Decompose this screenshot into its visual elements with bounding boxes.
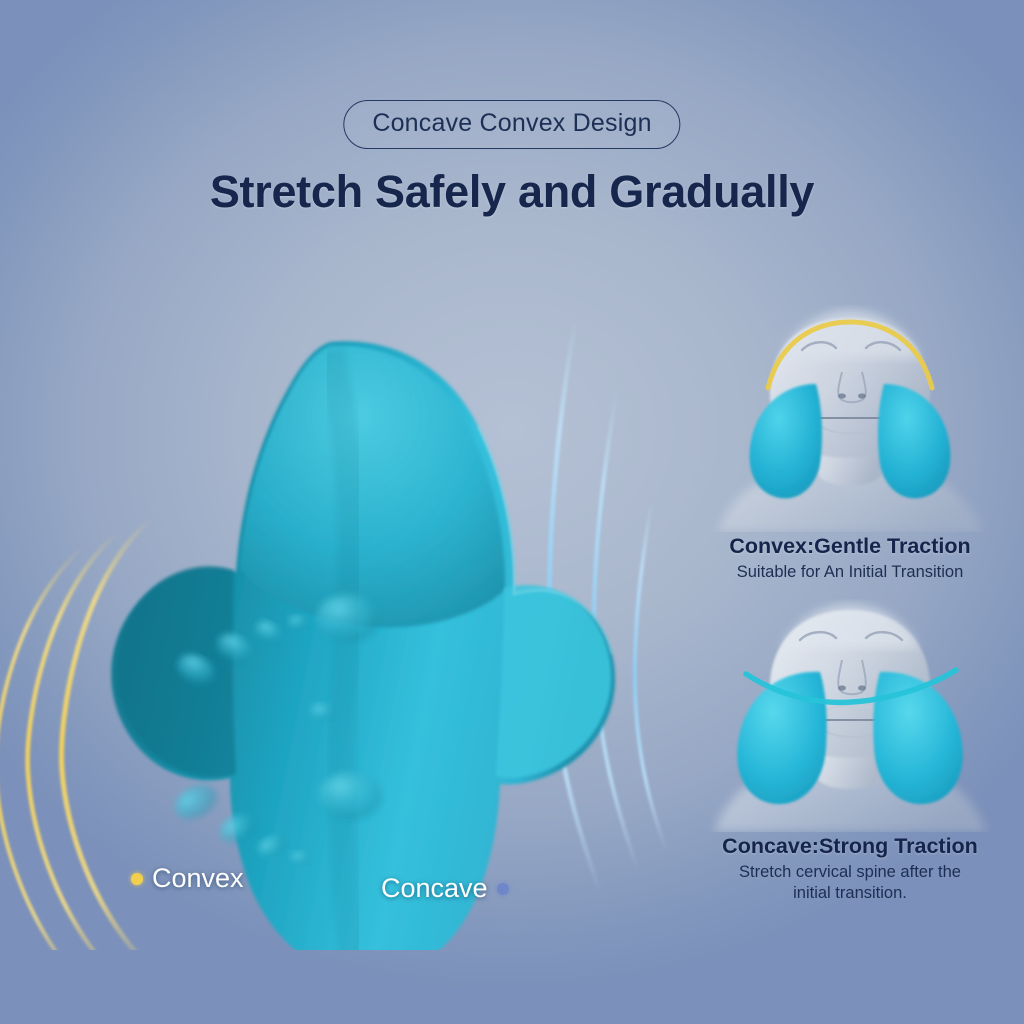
panel-convex-gentle-traction: Convex:Gentle Traction Suitable for An I…: [676, 296, 1024, 583]
caption-convex: Convex:Gentle Traction Suitable for An I…: [676, 534, 1024, 583]
convex-marker-dot: [131, 873, 143, 885]
caption-subtitle-concave: Stretch cervical spine after the initial…: [676, 862, 1024, 905]
caption-sub-line: Stretch cervical spine after the: [676, 862, 1024, 883]
convex-label-text: Convex: [152, 863, 244, 894]
figure-concave-traction: [676, 596, 1024, 832]
product-scene: Convex Concave: [0, 250, 680, 950]
design-badge: Concave Convex Design: [343, 100, 680, 149]
caption-sub-line: Suitable for An Initial Transition: [676, 562, 1024, 583]
caption-subtitle-convex: Suitable for An Initial Transition: [676, 562, 1024, 583]
figure-convex-traction: [676, 296, 1024, 532]
concave-label-text: Concave: [381, 873, 488, 904]
label-concave: Concave: [381, 873, 509, 904]
caption-sub-line: initial transition.: [676, 883, 1024, 904]
caption-title-convex: Convex:Gentle Traction: [676, 534, 1024, 559]
caption-concave: Concave:Strong Traction Stretch cervical…: [676, 834, 1024, 905]
caption-title-concave: Concave:Strong Traction: [676, 834, 1024, 859]
concave-marker-dot: [497, 883, 509, 895]
cervical-traction-pillow: [111, 341, 615, 950]
page-title: Stretch Safely and Gradually: [210, 166, 814, 218]
panel-concave-strong-traction: Concave:Strong Traction Stretch cervical…: [676, 596, 1024, 905]
label-convex: Convex: [131, 863, 244, 894]
